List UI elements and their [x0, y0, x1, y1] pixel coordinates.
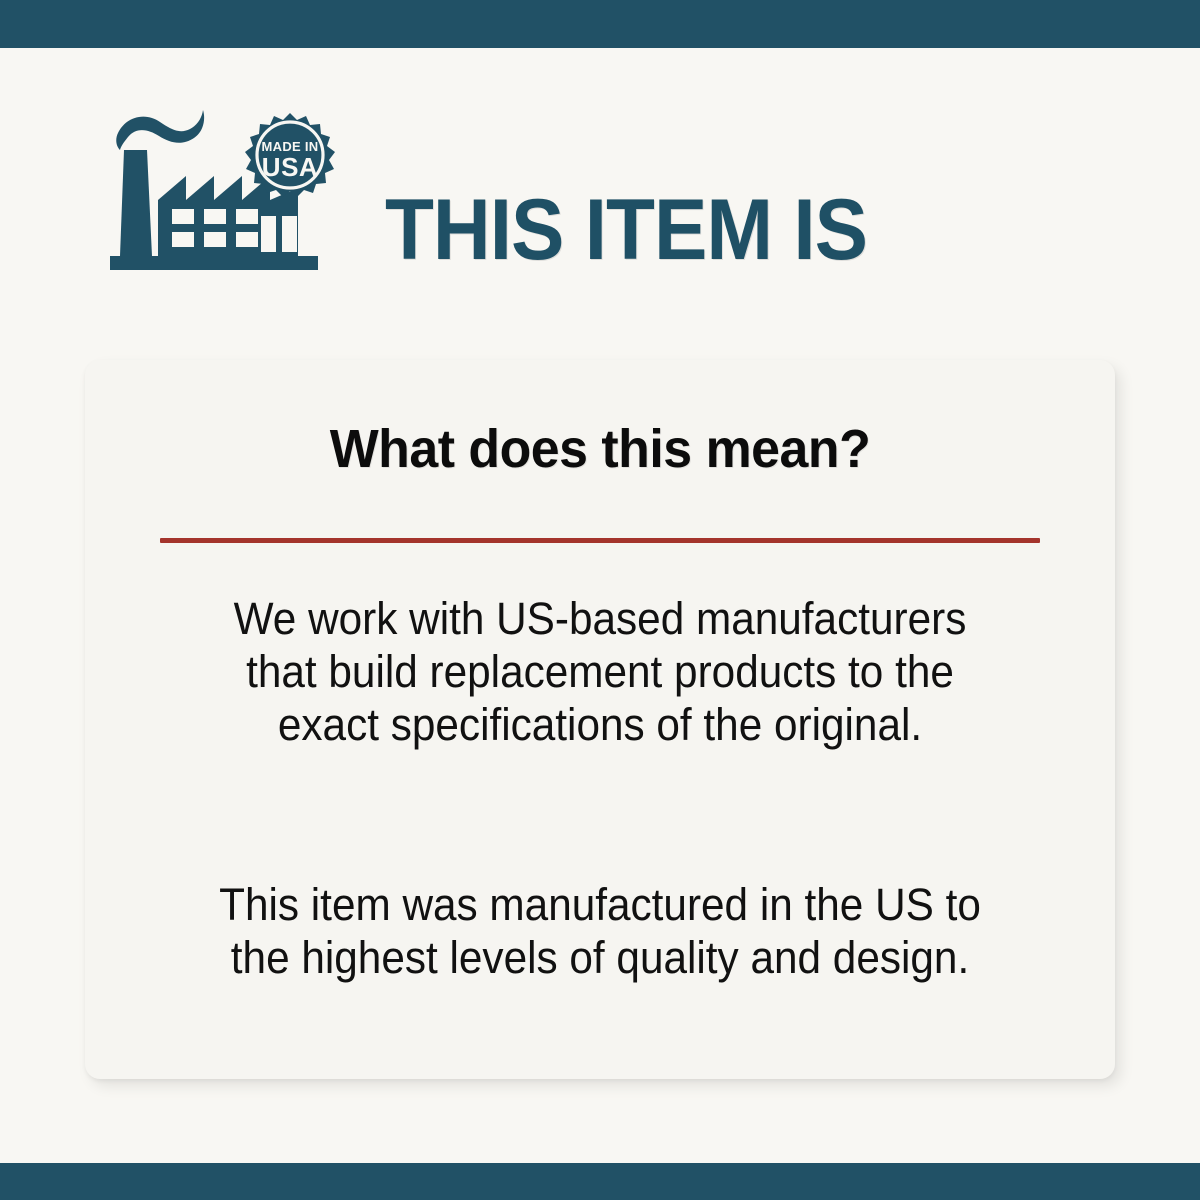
headline-line-1: THIS ITEM IS: [385, 188, 1120, 273]
top-accent-bar: [0, 0, 1200, 48]
card-heading: What does this mean?: [106, 418, 1095, 480]
red-divider: [160, 538, 1040, 543]
factory-icon: MADE IN USA: [102, 108, 340, 278]
info-card: What does this mean? We work with US-bas…: [85, 360, 1115, 1079]
card-paragraph-1: We work with US-based manufacturers that…: [174, 592, 1026, 751]
svg-text:USA: USA: [262, 152, 318, 182]
bottom-accent-bar: [0, 1163, 1200, 1200]
made-in-usa-badge-icon: MADE IN USA: [245, 113, 335, 197]
page-root: MADE IN USA THIS ITEM IS MADE IN THE USA…: [0, 0, 1200, 1200]
card-paragraph-2: This item was manufactured in the US to …: [174, 878, 1026, 984]
header-banner: MADE IN USA THIS ITEM IS MADE IN THE USA: [0, 48, 1200, 348]
